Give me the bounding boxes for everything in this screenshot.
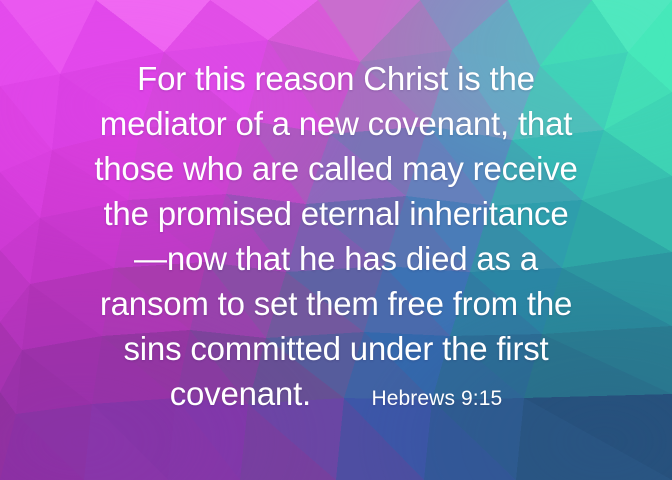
verse-line-1: For this reason Christ is the bbox=[14, 56, 658, 101]
scripture-quote-block: For this reason Christ is the mediator o… bbox=[0, 56, 672, 421]
verse-line-6: ransom to set them free from the bbox=[14, 281, 658, 326]
verse-line-5: —now that he has died as a bbox=[14, 236, 658, 281]
verse-line-2: mediator of a new covenant, that bbox=[14, 101, 658, 146]
quote-image-canvas: For this reason Christ is the mediator o… bbox=[0, 0, 672, 480]
scripture-citation: Hebrews 9:15 bbox=[371, 376, 502, 421]
last-line-with-citation: covenant. Hebrews 9:15 bbox=[14, 371, 658, 421]
verse-line-4: the promised eternal inheritance bbox=[14, 191, 658, 236]
verse-line-7: sins committed under the first bbox=[14, 326, 658, 371]
verse-line-8: covenant. bbox=[170, 371, 311, 416]
verse-line-3: those who are called may receive bbox=[14, 146, 658, 191]
